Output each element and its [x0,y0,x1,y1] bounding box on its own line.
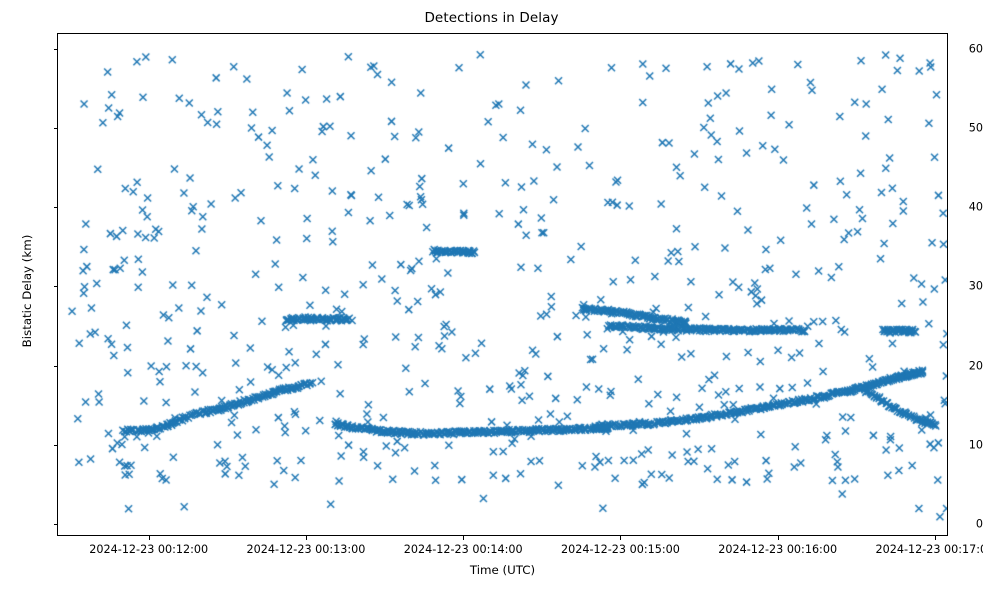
y-tick-label: 40 [943,201,983,214]
y-tick-label: 60 [943,42,983,55]
y-tick-mark [54,207,58,208]
y-tick-label: 0 [943,518,983,531]
y-axis-ticks: 0102030405060 [0,0,983,590]
y-tick-mark [54,366,58,367]
y-tick-label: 20 [943,359,983,372]
y-tick-mark [54,445,58,446]
y-tick-label: 30 [943,280,983,293]
y-tick-mark [54,286,58,287]
matplotlib-figure: Detections in Delay 2024-12-23 00:12:002… [0,0,983,590]
y-tick-label: 50 [943,122,983,135]
y-axis-label: Bistatic Delay (km) [20,161,34,421]
y-tick-label: 10 [943,438,983,451]
x-axis-label: Time (UTC) [57,563,948,577]
y-tick-mark [54,49,58,50]
y-tick-mark [54,524,58,525]
y-tick-mark [54,128,58,129]
